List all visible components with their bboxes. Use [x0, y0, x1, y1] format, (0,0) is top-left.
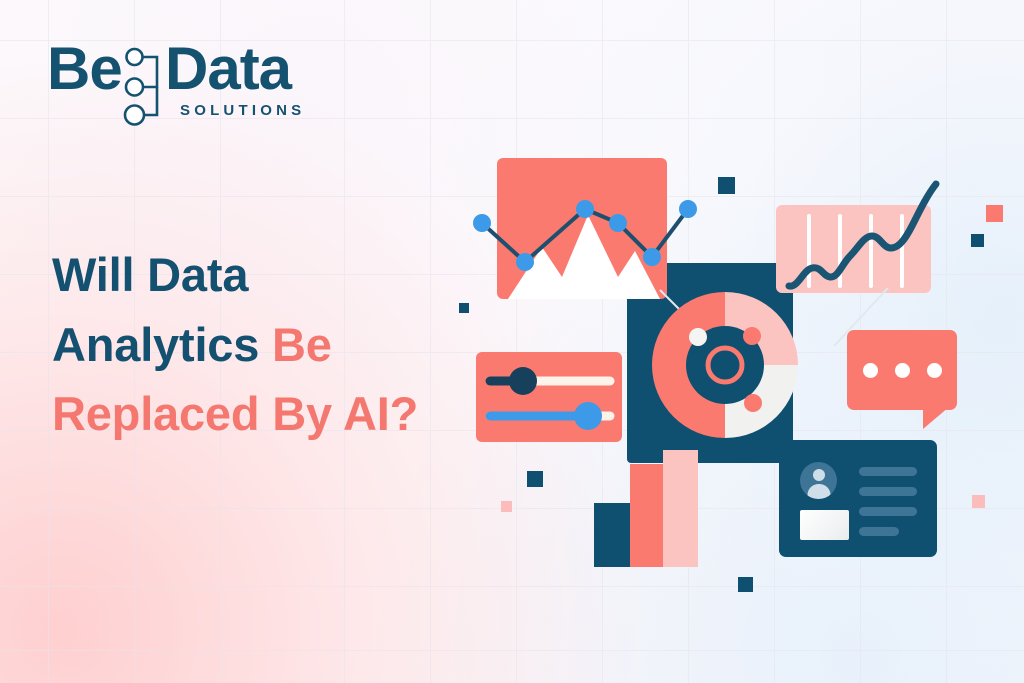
decor-square-4	[459, 303, 469, 313]
user-profile-card[interactable]	[779, 440, 937, 557]
donut-marker-coral-bottom	[744, 394, 762, 412]
profile-text-line	[859, 507, 917, 516]
profile-text-line	[859, 467, 917, 476]
chat-dots	[847, 363, 957, 378]
data-point	[516, 253, 534, 271]
decor-square-6	[501, 501, 512, 512]
profile-text-line	[859, 487, 917, 496]
donut-pie-chart[interactable]	[652, 292, 798, 438]
donut-marker-coral-top	[743, 327, 761, 345]
illustration	[0, 0, 1024, 683]
decor-square-2	[971, 234, 984, 247]
data-point	[679, 200, 697, 218]
hero-banner: Be Data SOLUTIONS Will Data Analytics Be…	[0, 0, 1024, 683]
chat-dot	[863, 363, 878, 378]
chat-bubble-tail	[923, 407, 949, 429]
chat-bubble[interactable]	[847, 330, 957, 410]
slider-graphics	[486, 368, 618, 430]
decor-square-3	[986, 205, 1003, 222]
data-point	[473, 214, 491, 232]
decor-square-7	[738, 577, 753, 592]
bar-chart-bar-2	[630, 464, 663, 567]
profile-photo-placeholder	[800, 510, 849, 540]
user-avatar-icon	[800, 462, 837, 499]
donut-marker-white	[689, 328, 707, 346]
avatar-body	[807, 484, 830, 499]
decor-square-5	[527, 471, 543, 487]
bar-chart-bar-1	[594, 503, 630, 567]
decor-square-8	[972, 495, 985, 508]
chat-dot	[895, 363, 910, 378]
chat-dot	[927, 363, 942, 378]
slider-bottom-handle[interactable]	[574, 402, 602, 430]
data-point	[576, 200, 594, 218]
profile-text-line	[859, 527, 899, 536]
bar-chart-bar-3	[663, 450, 698, 567]
data-point	[609, 214, 627, 232]
slider-top-handle[interactable]	[509, 367, 537, 395]
avatar-head	[813, 469, 825, 481]
decor-square-1	[718, 177, 735, 194]
